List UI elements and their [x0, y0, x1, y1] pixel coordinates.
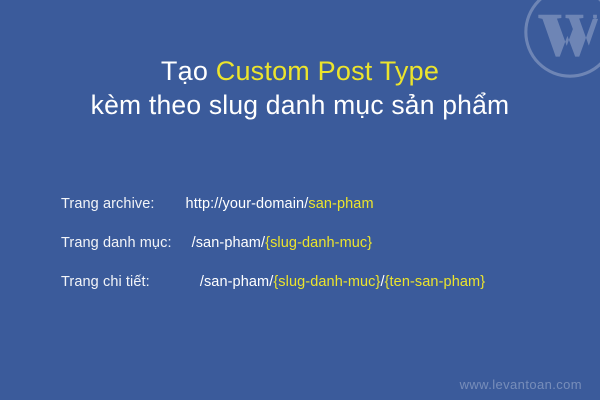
title-line-2: kèm theo slug danh mục sản phẩm: [0, 89, 600, 123]
path-rows-list: Trang archive: http://your-domain/san-ph…: [61, 196, 591, 313]
row-value-accent-2: {ten-san-pham}: [385, 274, 486, 290]
title-line-1: Tạo Custom Post Type: [0, 54, 600, 89]
row-label-category: Trang danh mục:: [61, 235, 172, 251]
row-value-plain: http://your-domain/: [186, 196, 309, 212]
list-item: Trang danh mục: /san-pham/{slug-danh-muc…: [61, 235, 591, 274]
row-value-accent: {slug-danh-muc}: [265, 235, 372, 251]
title-block: Tạo Custom Post Type kèm theo slug danh …: [0, 54, 600, 122]
slide-canvas: Tạo Custom Post Type kèm theo slug danh …: [0, 0, 600, 400]
title-line-1-plain: Tạo: [161, 56, 216, 86]
row-value-archive: http://your-domain/san-pham: [186, 196, 374, 212]
row-value-accent: {slug-danh-muc}: [273, 274, 380, 290]
list-item: Trang chi tiết: /san-pham/{slug-danh-muc…: [61, 274, 591, 313]
list-item: Trang archive: http://your-domain/san-ph…: [61, 196, 591, 235]
row-label-detail: Trang chi tiết:: [61, 274, 150, 290]
row-value-detail: /san-pham/{slug-danh-muc}/{ten-san-pham}: [200, 274, 485, 290]
row-value-accent: san-pham: [308, 196, 373, 212]
row-value-plain: /san-pham/: [200, 274, 274, 290]
row-label-archive: Trang archive:: [61, 196, 155, 212]
title-line-1-accent: Custom Post Type: [216, 56, 439, 86]
row-value-category: /san-pham/{slug-danh-muc}: [192, 235, 373, 251]
row-value-plain: /san-pham/: [192, 235, 266, 251]
site-watermark: www.levantoan.com: [460, 377, 582, 392]
